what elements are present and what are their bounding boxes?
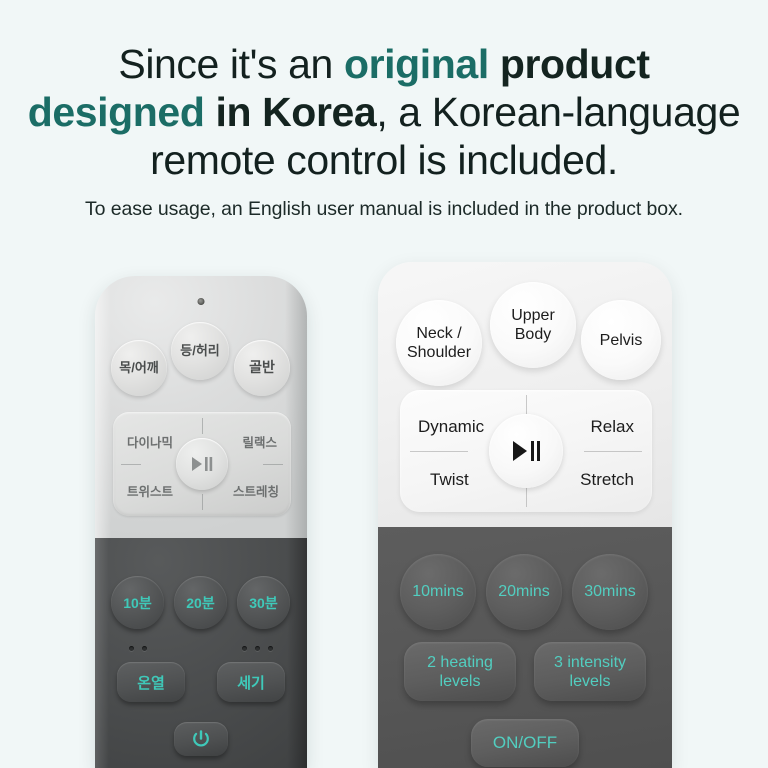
korean-zone-label-pelvis: 골반 bbox=[249, 360, 275, 375]
korean-zone-label-neck-shoulder: 목/어깨 bbox=[119, 361, 159, 375]
indicator-dot bbox=[255, 646, 260, 651]
english-timer-button-20mins[interactable]: 20mins bbox=[486, 554, 562, 630]
label-line-2: Body bbox=[515, 326, 551, 343]
korean-timer-button-10min[interactable]: 10분 bbox=[111, 576, 164, 629]
korean-intensity-label: 세기 bbox=[237, 672, 265, 693]
korean-remote: 목/어깨 등/허리 골반 다이나믹 릴랙스 트위스트 스트레칭 bbox=[95, 276, 307, 768]
korean-zone-button-upper-body[interactable]: 등/허리 bbox=[171, 322, 229, 380]
english-timer-label-20mins: 20mins bbox=[498, 583, 550, 601]
korean-mode-relax[interactable]: 릴랙스 bbox=[242, 432, 277, 451]
english-heating-levels-button[interactable]: 2 heating levels bbox=[404, 642, 516, 701]
english-remote-dark-panel: 10mins 20mins 30mins 2 heating levels 3 … bbox=[378, 527, 672, 768]
english-intensity-levels-button[interactable]: 3 intensity levels bbox=[534, 642, 646, 701]
korean-timer-label-10min: 10분 bbox=[123, 593, 151, 613]
power-icon bbox=[191, 729, 211, 749]
english-remote-light-panel: Neck / Shoulder Upper Body Pelvis Dynami… bbox=[378, 262, 672, 527]
english-zone-label-upper-body: Upper Body bbox=[511, 306, 555, 344]
english-zone-label-pelvis: Pelvis bbox=[600, 331, 643, 350]
remotes-stage: 목/어깨 등/허리 골반 다이나믹 릴랙스 트위스트 스트레칭 bbox=[0, 0, 768, 768]
korean-heat-indicator-dots bbox=[129, 646, 147, 651]
english-mode-relax[interactable]: Relax bbox=[591, 417, 634, 437]
label-line-1: Neck / bbox=[416, 325, 461, 342]
english-timer-button-30mins[interactable]: 30mins bbox=[572, 554, 648, 630]
label-line-1: 3 intensity bbox=[554, 654, 626, 671]
korean-heating-label: 온열 bbox=[137, 672, 165, 693]
korean-intensity-indicator-dots bbox=[242, 646, 273, 651]
english-timer-button-10mins[interactable]: 10mins bbox=[400, 554, 476, 630]
led-indicator-icon bbox=[198, 298, 205, 305]
korean-zone-button-pelvis[interactable]: 골반 bbox=[234, 340, 290, 396]
english-intensity-levels-label: 3 intensity levels bbox=[554, 653, 626, 691]
english-timer-label-10mins: 10mins bbox=[412, 583, 464, 601]
english-timer-label-30mins: 30mins bbox=[584, 583, 636, 601]
english-remote: Neck / Shoulder Upper Body Pelvis Dynami… bbox=[378, 262, 672, 768]
indicator-dot bbox=[268, 646, 273, 651]
pad-divider-bottom bbox=[202, 494, 203, 510]
english-onoff-button[interactable]: ON/OFF bbox=[471, 719, 579, 767]
play-pause-icon bbox=[511, 440, 541, 462]
pad-divider-right bbox=[584, 451, 642, 452]
label-line-2: levels bbox=[570, 673, 611, 690]
play-pause-icon bbox=[191, 456, 213, 472]
english-play-pause-button[interactable] bbox=[489, 414, 563, 488]
label-line-1: Upper bbox=[511, 307, 555, 324]
indicator-dot bbox=[242, 646, 247, 651]
english-zone-label-neck-shoulder: Neck / Shoulder bbox=[407, 324, 471, 362]
korean-mode-twist[interactable]: 트위스트 bbox=[127, 481, 173, 500]
pad-divider-bottom bbox=[526, 487, 527, 507]
english-mode-twist[interactable]: Twist bbox=[430, 470, 469, 490]
korean-mode-dynamic[interactable]: 다이나믹 bbox=[127, 432, 173, 451]
english-zone-button-pelvis[interactable]: Pelvis bbox=[581, 300, 661, 380]
english-mode-dynamic[interactable]: Dynamic bbox=[418, 417, 484, 437]
pad-divider-top bbox=[526, 395, 527, 415]
pad-divider-right bbox=[263, 464, 283, 465]
korean-zone-button-neck-shoulder[interactable]: 목/어깨 bbox=[111, 340, 167, 396]
label-line-1: 2 heating bbox=[427, 654, 493, 671]
korean-remote-dark-panel: 10분 20분 30분 온열 세기 bbox=[95, 538, 307, 768]
english-mode-stretch[interactable]: Stretch bbox=[580, 470, 634, 490]
english-zone-button-upper-body[interactable]: Upper Body bbox=[490, 282, 576, 368]
indicator-dot bbox=[142, 646, 147, 651]
english-heating-levels-label: 2 heating levels bbox=[427, 653, 493, 691]
indicator-dot bbox=[129, 646, 134, 651]
korean-timer-button-20min[interactable]: 20분 bbox=[174, 576, 227, 629]
english-onoff-label: ON/OFF bbox=[493, 733, 557, 753]
english-zone-button-neck-shoulder[interactable]: Neck / Shoulder bbox=[396, 300, 482, 386]
label-line-2: levels bbox=[440, 673, 481, 690]
pad-divider-top bbox=[202, 418, 203, 434]
korean-timer-button-30min[interactable]: 30분 bbox=[237, 576, 290, 629]
korean-power-button[interactable] bbox=[174, 722, 228, 756]
korean-heating-button[interactable]: 온열 bbox=[117, 662, 185, 702]
korean-timer-label-20min: 20분 bbox=[186, 593, 214, 613]
korean-intensity-button[interactable]: 세기 bbox=[217, 662, 285, 702]
korean-timer-label-30min: 30분 bbox=[249, 593, 277, 613]
pad-divider-left bbox=[410, 451, 468, 452]
english-mode-pad: Dynamic Relax Twist Stretch bbox=[400, 390, 652, 512]
korean-remote-light-panel: 목/어깨 등/허리 골반 다이나믹 릴랙스 트위스트 스트레칭 bbox=[95, 276, 307, 538]
korean-play-pause-button[interactable] bbox=[176, 438, 228, 490]
pad-divider-left bbox=[121, 464, 141, 465]
korean-mode-pad: 다이나믹 릴랙스 트위스트 스트레칭 bbox=[113, 412, 291, 516]
korean-zone-label-upper-body: 등/허리 bbox=[180, 344, 220, 358]
label-line-2: Shoulder bbox=[407, 344, 471, 361]
korean-mode-stretch[interactable]: 스트레칭 bbox=[233, 481, 279, 500]
